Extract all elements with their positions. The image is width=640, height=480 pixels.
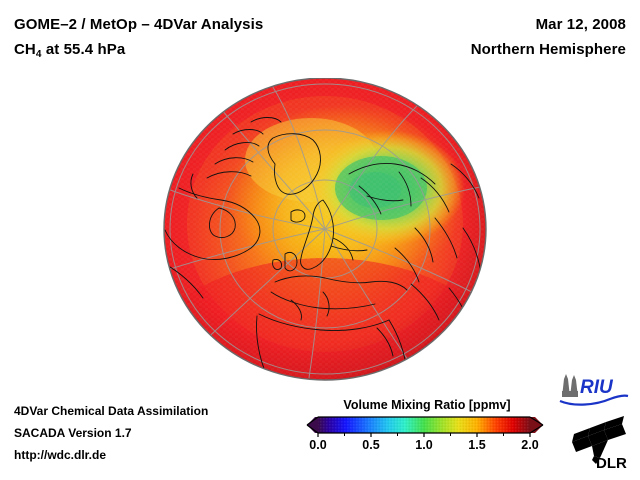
colorbar-tick-0: 0.0	[309, 438, 326, 452]
colorbar-tick-labels: 0.0 0.5 1.0 1.5 2.0	[305, 438, 545, 454]
figure-canvas: GOME–2 / MetOp – 4DVar Analysis CH4 at 5…	[0, 0, 640, 480]
colorbar-dither	[318, 417, 530, 433]
colorbar-ticks	[318, 433, 530, 437]
header-left: GOME–2 / MetOp – 4DVar Analysis CH4 at 5…	[14, 12, 263, 67]
page-title: GOME–2 / MetOp – 4DVar Analysis	[14, 12, 263, 37]
region-label: Northern Hemisphere	[471, 37, 626, 62]
colorbar-tick-2: 1.0	[415, 438, 432, 452]
colorbar-scale	[305, 415, 545, 437]
colorbar-tick-1: 0.5	[362, 438, 379, 452]
pressure-level: at 55.4 hPa	[42, 41, 126, 58]
header-right: Mar 12, 2008 Northern Hemisphere	[471, 12, 626, 62]
species-pressure-label: CH4 at 55.4 hPa	[14, 37, 263, 67]
footer-line-version: SACADA Version 1.7	[14, 422, 208, 444]
orthographic-projection	[163, 78, 487, 381]
riu-logo-mark: RIU	[558, 371, 630, 407]
colorbar-tick-4: 2.0	[521, 438, 538, 452]
footer-line-assimilation: 4DVar Chemical Data Assimilation	[14, 400, 208, 422]
footer-line-url: http://wdc.dlr.de	[14, 444, 208, 466]
species-name: CH	[14, 41, 36, 58]
colorbar: Volume Mixing Ratio [ppmv]	[305, 398, 545, 454]
dlr-logo-mark: DLR	[570, 414, 632, 472]
dlr-logo: DLR	[570, 414, 632, 472]
dlr-logo-text: DLR	[596, 455, 627, 472]
colorbar-tick-3: 1.5	[468, 438, 485, 452]
riu-logo-text: RIU	[580, 377, 614, 398]
riu-logo: RIU	[558, 371, 630, 407]
globe-map	[163, 78, 487, 381]
colorbar-title: Volume Mixing Ratio [ppmv]	[309, 398, 545, 412]
date-label: Mar 12, 2008	[471, 12, 626, 37]
footer-credits: 4DVar Chemical Data Assimilation SACADA …	[14, 400, 208, 466]
cathedral-towers-icon	[562, 374, 578, 397]
